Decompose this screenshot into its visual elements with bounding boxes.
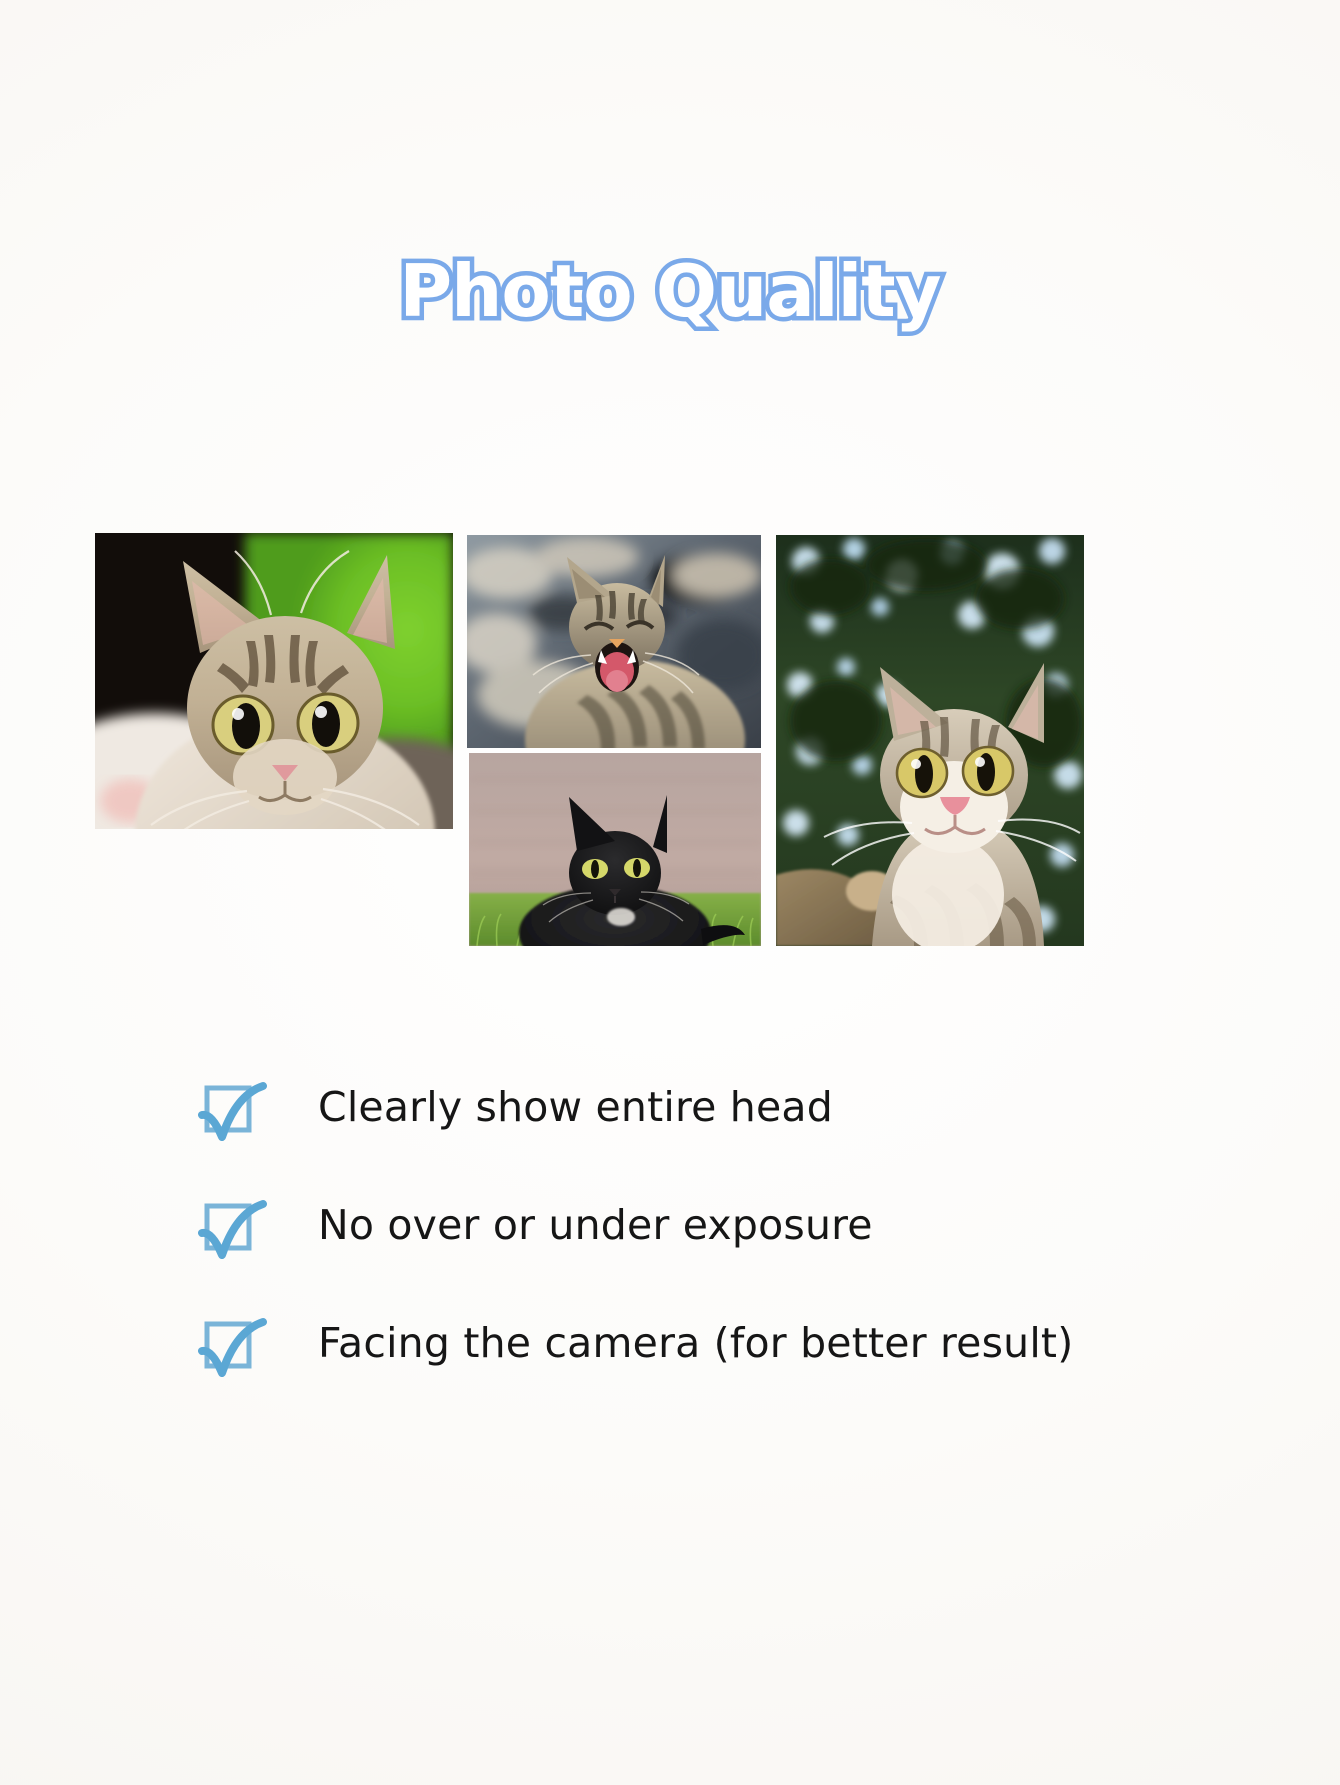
page-title: Photo Quality — [399, 255, 940, 327]
page-title-container: Photo Quality — [0, 255, 1340, 355]
checkbox-check-icon — [196, 1307, 268, 1379]
photo-quality-checklist: Clearly show entire head No over or unde… — [196, 1048, 1196, 1402]
example-photo-4 — [469, 753, 761, 946]
checkbox-check-icon — [196, 1189, 268, 1261]
checklist-item: Facing the camera (for better result) — [196, 1284, 1196, 1402]
checkbox-check-icon — [196, 1071, 268, 1143]
checklist-item-label: Facing the camera (for better result) — [318, 1319, 1073, 1367]
checklist-item-label: Clearly show entire head — [318, 1083, 833, 1131]
checklist-item: Clearly show entire head — [196, 1048, 1196, 1166]
example-photo-3 — [776, 535, 1084, 946]
example-photo-2 — [467, 535, 761, 748]
example-photo-1 — [95, 533, 453, 829]
checklist-item: No over or under exposure — [196, 1166, 1196, 1284]
checklist-item-label: No over or under exposure — [318, 1201, 873, 1249]
